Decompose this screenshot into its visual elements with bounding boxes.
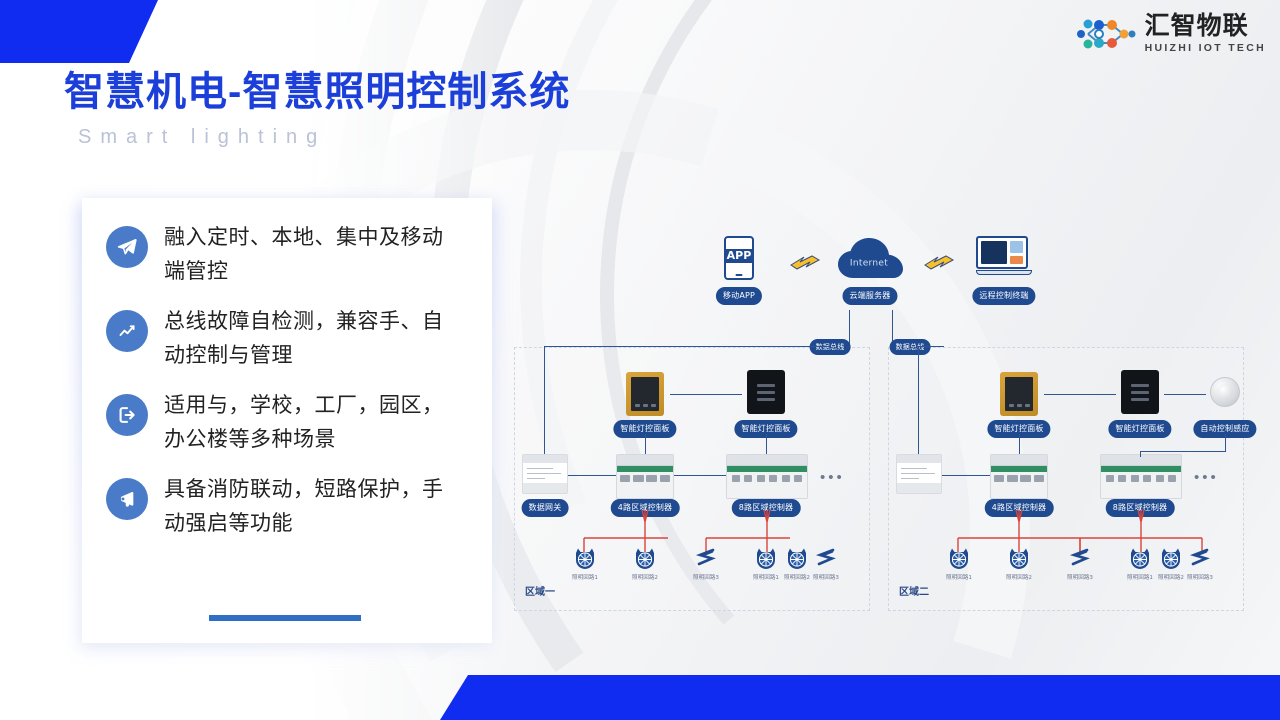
panel-screen xyxy=(1005,377,1033,411)
molecule-network-icon xyxy=(1075,12,1137,56)
gateway-detail-line xyxy=(901,478,919,480)
wireless-bolt-icon xyxy=(922,252,956,272)
laptop-panel-blue xyxy=(1010,241,1023,253)
panel-button xyxy=(1131,398,1149,401)
phone-home-indicator xyxy=(736,274,743,276)
panel-button xyxy=(1131,384,1149,387)
gateway-face xyxy=(897,463,941,483)
controller-terminal xyxy=(794,475,802,482)
controller-terminal xyxy=(1143,475,1151,482)
lamp-strip-icon xyxy=(814,547,838,576)
controller-terminal xyxy=(620,475,630,482)
node-label-remote-terminal: 远程控制终端 xyxy=(972,287,1035,305)
panel-link-wire xyxy=(670,394,742,395)
lamp-label: 照明回路1 xyxy=(753,573,779,581)
more-devices-ellipsis: ••• xyxy=(820,470,845,485)
gateway-detail-line xyxy=(901,468,927,470)
slide-canvas: 智慧机电-智慧照明控制系统 Smart lighting 汇智物联 HUIZHI… xyxy=(0,0,1280,720)
lamp-fixture-icon xyxy=(573,547,597,576)
feature-item-label: 具备消防联动，短路保护，手动强启等功能 xyxy=(164,472,464,540)
controller-terminals xyxy=(620,475,669,482)
logo-text-cn: 汇智物联 xyxy=(1145,14,1266,39)
gateway-top xyxy=(897,455,941,463)
panel-button xyxy=(757,384,775,387)
lamp-label: 照明回路3 xyxy=(1187,573,1213,581)
panel-button xyxy=(1025,404,1030,407)
feature-card: 融入定时、本地、集中及移动端管控 总线故障自检测，兼容手、自动控制与管理 适用与… xyxy=(82,198,492,643)
sensor-elbow-wire xyxy=(1140,451,1226,452)
feature-item: 总线故障自检测，兼容手、自动控制与管理 xyxy=(106,304,478,372)
lamp-label: 照明回路3 xyxy=(693,573,719,581)
bus-wire xyxy=(544,346,545,454)
occupancy-sensor-icon xyxy=(1210,377,1240,407)
controller-terminal xyxy=(1156,475,1164,482)
node-label-panel-2b: 智能灯控面板 xyxy=(1108,420,1171,438)
gateway-bottom xyxy=(897,483,941,493)
feature-item: 适用与，学校，工厂，园区，办公楼等多种场景 xyxy=(106,388,478,456)
feature-item: 融入定时、本地、集中及移动端管控 xyxy=(106,220,478,288)
lamp-label: 照明回路3 xyxy=(1067,573,1093,581)
controller-terminals xyxy=(1106,475,1176,482)
lamp-label: 照明回路2 xyxy=(784,573,810,581)
gateway-detail-line xyxy=(901,473,935,475)
controller-terminals xyxy=(732,475,802,482)
laptop-screen-main xyxy=(981,241,1007,264)
panel-down-wire xyxy=(645,434,646,454)
node-label-mobile-app: 移动APP xyxy=(716,287,762,305)
bus-wire xyxy=(918,346,919,454)
lamp-fixture-icon xyxy=(785,547,809,576)
lamp-fixture-icon xyxy=(1159,547,1183,576)
lamp-label: 照明回路3 xyxy=(813,573,839,581)
controller-terminal xyxy=(1007,475,1017,482)
lamp-fixture-icon xyxy=(1007,547,1031,576)
panel-button xyxy=(651,404,656,407)
controller-terminal xyxy=(660,475,670,482)
brand-logo: 汇智物联 HUIZHI IOT TECH xyxy=(1075,12,1266,56)
smart-light-panel-black-icon xyxy=(747,370,785,414)
controller-terminals xyxy=(994,475,1043,482)
cloud-server-icon: Internet xyxy=(833,236,905,287)
sensor-link-wire xyxy=(1164,394,1206,395)
logout-arrow-icon xyxy=(106,394,148,436)
app-badge: APP xyxy=(726,249,752,263)
feature-list: 融入定时、本地、集中及移动端管控 总线故障自检测，兼容手、自动控制与管理 适用与… xyxy=(106,220,478,556)
logo-text-en: HUIZHI IOT TECH xyxy=(1145,43,1266,54)
lamp-strip-icon xyxy=(694,547,718,576)
device-link-wire xyxy=(942,475,990,476)
zone-label: 区域一 xyxy=(525,583,555,598)
cloud-label: Internet xyxy=(850,258,888,268)
controller-terminal xyxy=(732,475,740,482)
controller-terminal xyxy=(757,475,765,482)
lamp-strip-icon xyxy=(1188,547,1212,576)
panel-button xyxy=(643,404,648,407)
panel-buttons xyxy=(1005,404,1033,407)
panel-down-wire xyxy=(766,434,767,454)
controller-terminal xyxy=(1020,475,1030,482)
feature-item: 具备消防联动，短路保护，手动强启等功能 xyxy=(106,472,478,540)
gateway-top xyxy=(523,455,567,463)
panel-buttons xyxy=(631,404,659,407)
panel-button xyxy=(1131,391,1149,394)
controller-terminal xyxy=(633,475,643,482)
controller-top xyxy=(727,455,807,466)
megaphone-icon xyxy=(106,478,148,520)
smart-light-panel-gold-icon xyxy=(626,372,664,416)
lamp-label: 照明回路2 xyxy=(632,573,658,581)
panel-screen xyxy=(631,377,659,411)
controller-top xyxy=(617,455,673,466)
feature-item-label: 融入定时、本地、集中及移动端管控 xyxy=(164,220,464,288)
node-label-cloud-server: 云端服务器 xyxy=(843,287,898,305)
controller-top xyxy=(991,455,1047,466)
controller-terminal xyxy=(769,475,777,482)
zone-label: 区域二 xyxy=(899,583,929,598)
controller-terminal xyxy=(1106,475,1114,482)
chart-line-icon xyxy=(106,310,148,352)
controller-terminal xyxy=(994,475,1004,482)
controller-terminal xyxy=(1118,475,1126,482)
laptop-panel-orange xyxy=(1010,256,1023,264)
controller-terminal xyxy=(646,475,656,482)
lamp-fixture-icon xyxy=(633,547,657,576)
bus-wire xyxy=(849,310,850,344)
card-underline-accent xyxy=(209,615,361,621)
system-architecture-diagram: 区域一 区域二 APP 移动APP Internet 云端服务器 xyxy=(498,222,1280,622)
paper-plane-icon xyxy=(106,226,148,268)
sensor-down-wire xyxy=(1225,434,1226,452)
zone-controller-8ch-icon xyxy=(726,454,808,499)
bus-wire xyxy=(918,346,944,347)
panel-link-wire xyxy=(1044,394,1116,395)
controller-terminal xyxy=(1131,475,1139,482)
bottom-accent-bar xyxy=(440,675,1280,720)
laptop-base xyxy=(976,270,1032,275)
gateway-detail-line xyxy=(527,468,553,470)
laptop-screen-side xyxy=(1010,241,1023,264)
lamp-strip-icon xyxy=(1068,547,1092,576)
controller-body xyxy=(727,472,807,499)
zone-controller-4ch-icon xyxy=(616,454,674,499)
remote-terminal-icon xyxy=(976,236,1032,278)
panel-button xyxy=(757,391,775,394)
page-subtitle: Smart lighting xyxy=(78,126,326,149)
panel-button xyxy=(1009,404,1014,407)
lamp-fixture-icon xyxy=(1128,547,1152,576)
panel-button xyxy=(757,398,775,401)
controller-terminal xyxy=(744,475,752,482)
bus-wire xyxy=(544,346,830,347)
panel-button xyxy=(1017,404,1022,407)
smart-light-panel-black-icon xyxy=(1121,370,1159,414)
gateway-bottom xyxy=(523,483,567,493)
panel-button xyxy=(635,404,640,407)
controller-terminal xyxy=(1168,475,1176,482)
wireless-bolt-icon xyxy=(788,252,822,272)
lamp-label: 照明回路2 xyxy=(1006,573,1032,581)
more-devices-ellipsis: ••• xyxy=(1194,470,1219,485)
controller-body xyxy=(991,472,1047,499)
lamp-label: 照明回路1 xyxy=(946,573,972,581)
lamp-fixture-icon xyxy=(947,547,971,576)
zone-controller-8ch-icon xyxy=(1100,454,1182,499)
zone-controller-4ch-icon xyxy=(990,454,1048,499)
mobile-app-device-icon: APP xyxy=(724,236,754,280)
device-link-wire xyxy=(674,475,726,476)
page-title: 智慧机电-智慧照明控制系统 xyxy=(64,72,570,112)
laptop-screen xyxy=(976,236,1028,269)
panel-down-wire xyxy=(1019,434,1020,454)
data-gateway-device-icon xyxy=(522,454,568,494)
gateway-detail-line xyxy=(527,473,561,475)
feature-item-label: 适用与，学校，工厂，园区，办公楼等多种场景 xyxy=(164,388,464,456)
lamp-label: 照明回路2 xyxy=(1158,573,1184,581)
lamp-label: 照明回路1 xyxy=(572,573,598,581)
device-link-wire xyxy=(568,475,616,476)
lamp-label: 照明回路1 xyxy=(1127,573,1153,581)
smart-light-panel-gold-icon xyxy=(1000,372,1038,416)
sensor-elbow-wire xyxy=(1140,451,1141,457)
lamp-fixture-icon xyxy=(754,547,778,576)
gateway-detail-line xyxy=(527,478,545,480)
controller-body xyxy=(1101,472,1181,499)
controller-terminal xyxy=(1034,475,1044,482)
controller-body xyxy=(617,472,673,499)
controller-terminal xyxy=(782,475,790,482)
gateway-face xyxy=(523,463,567,483)
data-gateway-device-icon xyxy=(896,454,942,494)
feature-item-label: 总线故障自检测，兼容手、自动控制与管理 xyxy=(164,304,464,372)
